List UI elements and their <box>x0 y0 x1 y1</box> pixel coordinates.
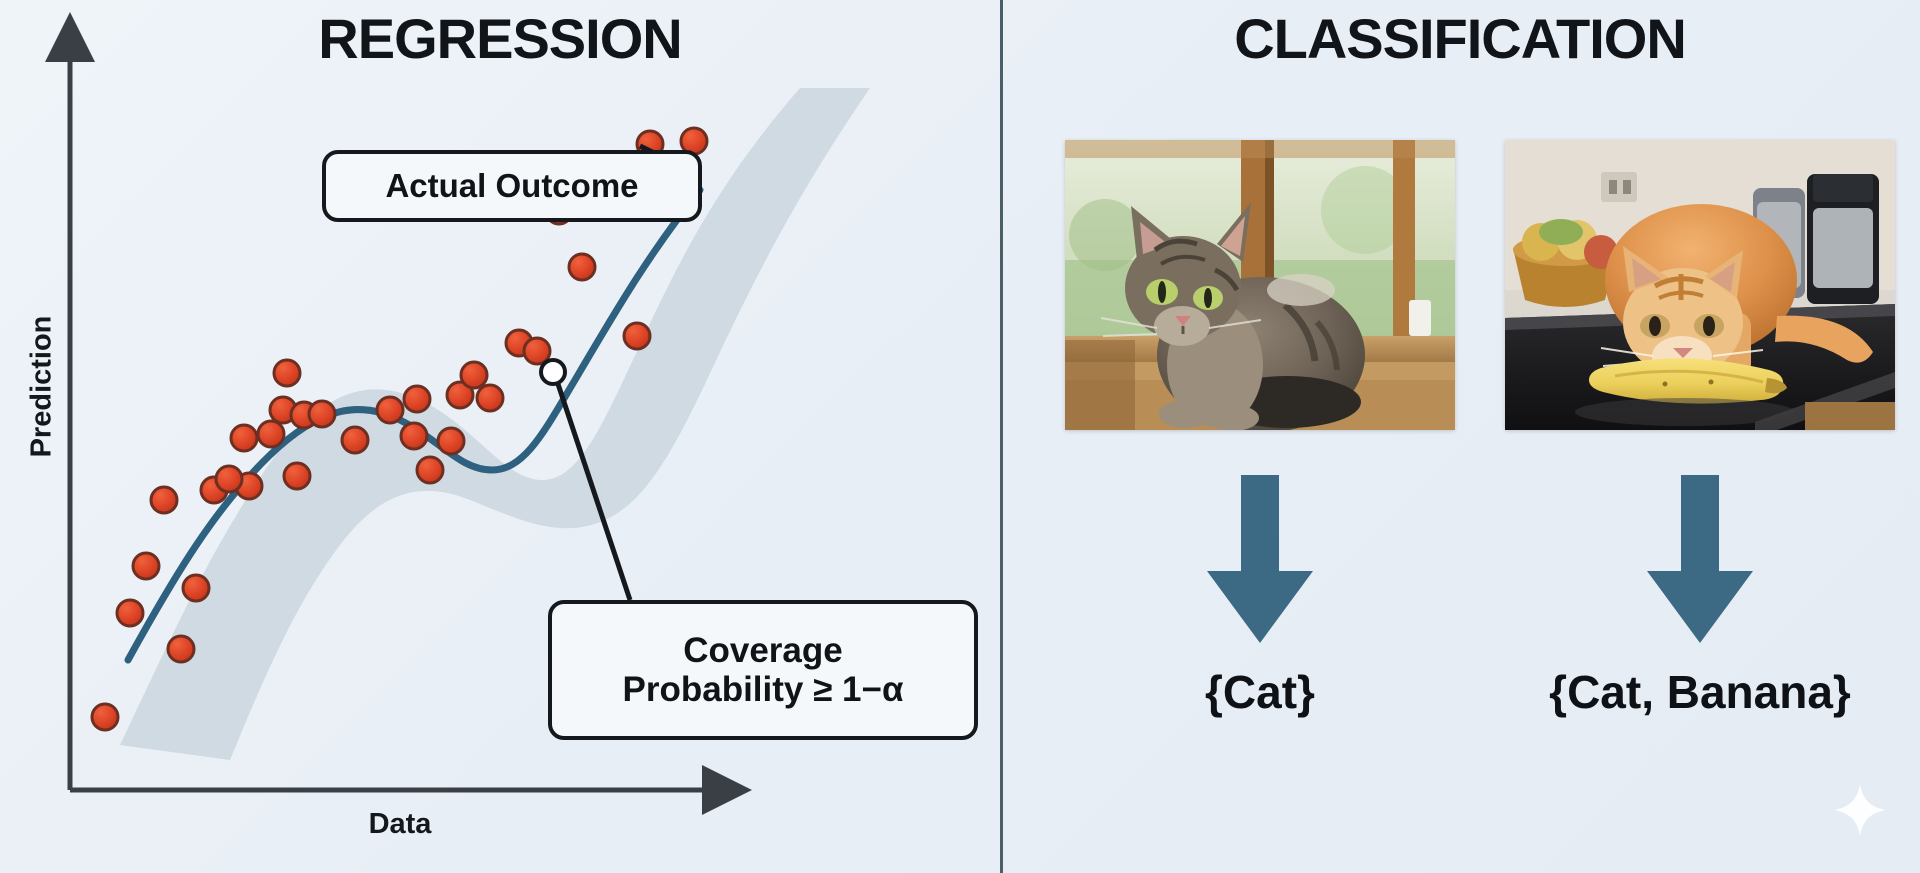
regression-plot-svg <box>0 0 1000 873</box>
tabby-cat-on-windowsill-illustration <box>1065 140 1455 430</box>
down-arrow-icon <box>1205 475 1315 645</box>
classification-panel <box>1000 0 1920 873</box>
x-axis-label: Data <box>310 808 490 841</box>
coverage-probability-callout: Coverage Probability ≥ 1−α <box>548 600 978 740</box>
coverage-callout-line-2: Probability ≥ 1−α <box>623 670 904 709</box>
regression-panel: REGRESSION <box>0 0 1000 873</box>
sparkle-glyph <box>1832 782 1888 838</box>
y-axis-label: Prediction <box>26 297 59 477</box>
orange-cat-sniffing-banana-illustration <box>1505 140 1895 430</box>
example-image-tabby-cat-on-windowsill <box>1065 140 1455 430</box>
example-image-orange-cat-sniffing-banana <box>1505 140 1895 430</box>
down-arrow-icon <box>1645 475 1755 645</box>
coverage-callout-line-1: Coverage <box>623 631 904 670</box>
figure-canvas: REGRESSION <box>0 0 1920 873</box>
classification-title: CLASSIFICATION <box>1000 6 1920 71</box>
prediction-set-label-right: {Cat, Banana} <box>1440 665 1920 719</box>
actual-outcome-callout: Actual Outcome <box>322 150 702 222</box>
regression-chart: Prediction Data <box>0 0 1000 873</box>
sparkle-icon <box>1832 782 1888 838</box>
down-arrow-left <box>1205 475 1315 645</box>
actual-outcome-callout-label: Actual Outcome <box>385 168 638 205</box>
prediction-set-label-left: {Cat} <box>1065 665 1455 719</box>
down-arrow-right <box>1645 475 1755 645</box>
